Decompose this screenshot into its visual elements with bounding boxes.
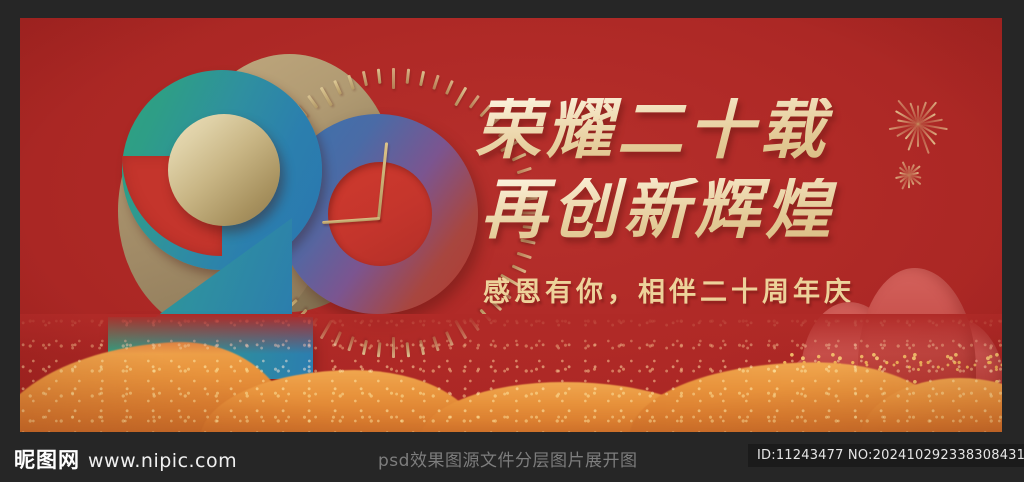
firework-burst-icon: [886, 92, 950, 156]
asset-id-badge: ID:11243477 NO:20241029233830843101: [748, 444, 1024, 467]
watermark-cn-name: 昵图网: [14, 444, 80, 474]
gold-brush-landscape: [20, 314, 1002, 432]
site-watermark: 昵图网 www.nipic.com: [14, 444, 237, 474]
digit-two-gold-circle: [168, 114, 280, 226]
clock-tick: [347, 75, 354, 90]
watermark-url: www.nipic.com: [88, 450, 237, 472]
bottom-info-bar: 昵图网 www.nipic.com psd效果图源文件分层图片展开图 ID:11…: [0, 432, 1024, 482]
asset-caption: psd效果图源文件分层图片展开图: [378, 446, 637, 471]
clock-tick: [361, 71, 367, 86]
firework-burst-small-icon: [892, 158, 926, 192]
clock-tick: [376, 69, 381, 84]
clock-tick: [405, 69, 410, 84]
clock-tick: [445, 80, 454, 95]
clock-tick: [392, 68, 395, 89]
poster-canvas: 荣耀二十载 再创新辉煌 感恩有你，相伴二十周年庆: [20, 18, 1002, 432]
clock-tick: [454, 87, 467, 107]
screenshot-stage: 荣耀二十载 再创新辉煌 感恩有你，相伴二十周年庆 昵图网 www.nip: [0, 0, 1024, 482]
clock-tick: [419, 71, 425, 86]
headline-line-2: 再创新辉煌: [475, 178, 895, 244]
clock-tick: [432, 75, 439, 90]
headline-line-1: 荣耀二十载: [475, 98, 895, 164]
